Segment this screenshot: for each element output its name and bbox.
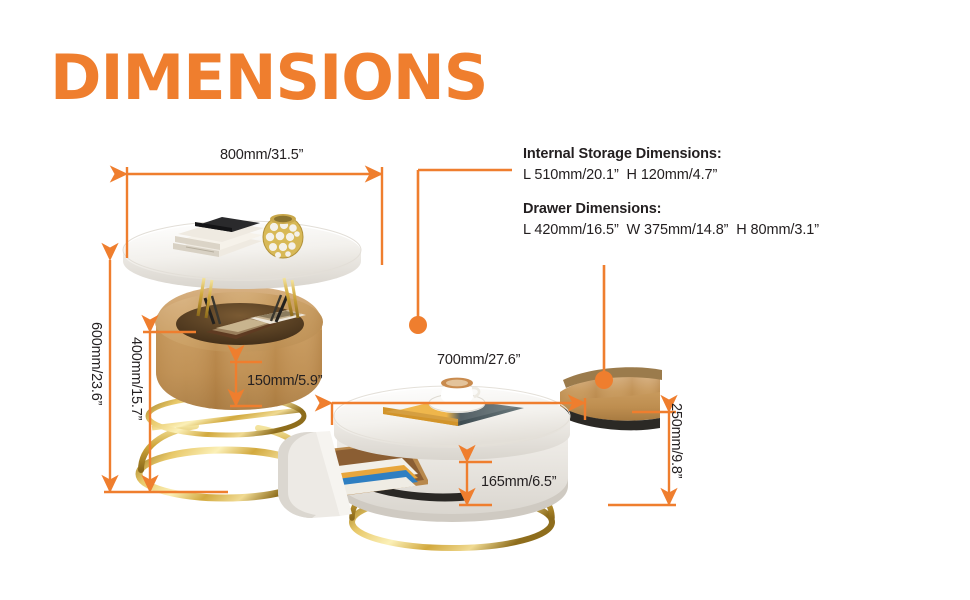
dim-label-165mm: 165mm/6.5” [481, 474, 556, 490]
drawer-heading: Drawer Dimensions: [523, 201, 923, 217]
gold-candle-holder [263, 214, 303, 258]
drawer-values: L 420mm/16.5” W 375mm/14.8” H 80mm/3.1” [523, 222, 923, 238]
round-nesting-table [278, 367, 662, 548]
dim-label-250mm: 250mm/9.8” [668, 403, 684, 478]
wood-storage-drum [155, 286, 323, 410]
callout-text-block: Internal Storage Dimensions: L 510mm/20.… [523, 146, 923, 238]
product-illustration [0, 0, 970, 600]
dim-label-600mm: 600mm/23.6” [88, 322, 104, 405]
diagram-canvas: DIMENSIONS [0, 0, 970, 600]
internal-storage-values: L 510mm/20.1” H 120mm/4.7” [523, 167, 923, 183]
dim-label-400mm: 400mm/15.7” [128, 337, 144, 420]
leader-dot-internal-storage [409, 316, 427, 334]
dim-label-800mm: 800mm/31.5” [220, 147, 303, 163]
dim-label-700mm: 700mm/27.6” [437, 352, 520, 368]
leader-dot-drawer [595, 371, 613, 389]
dim-label-150mm: 150mm/5.9” [247, 373, 322, 389]
internal-storage-heading: Internal Storage Dimensions: [523, 146, 923, 162]
